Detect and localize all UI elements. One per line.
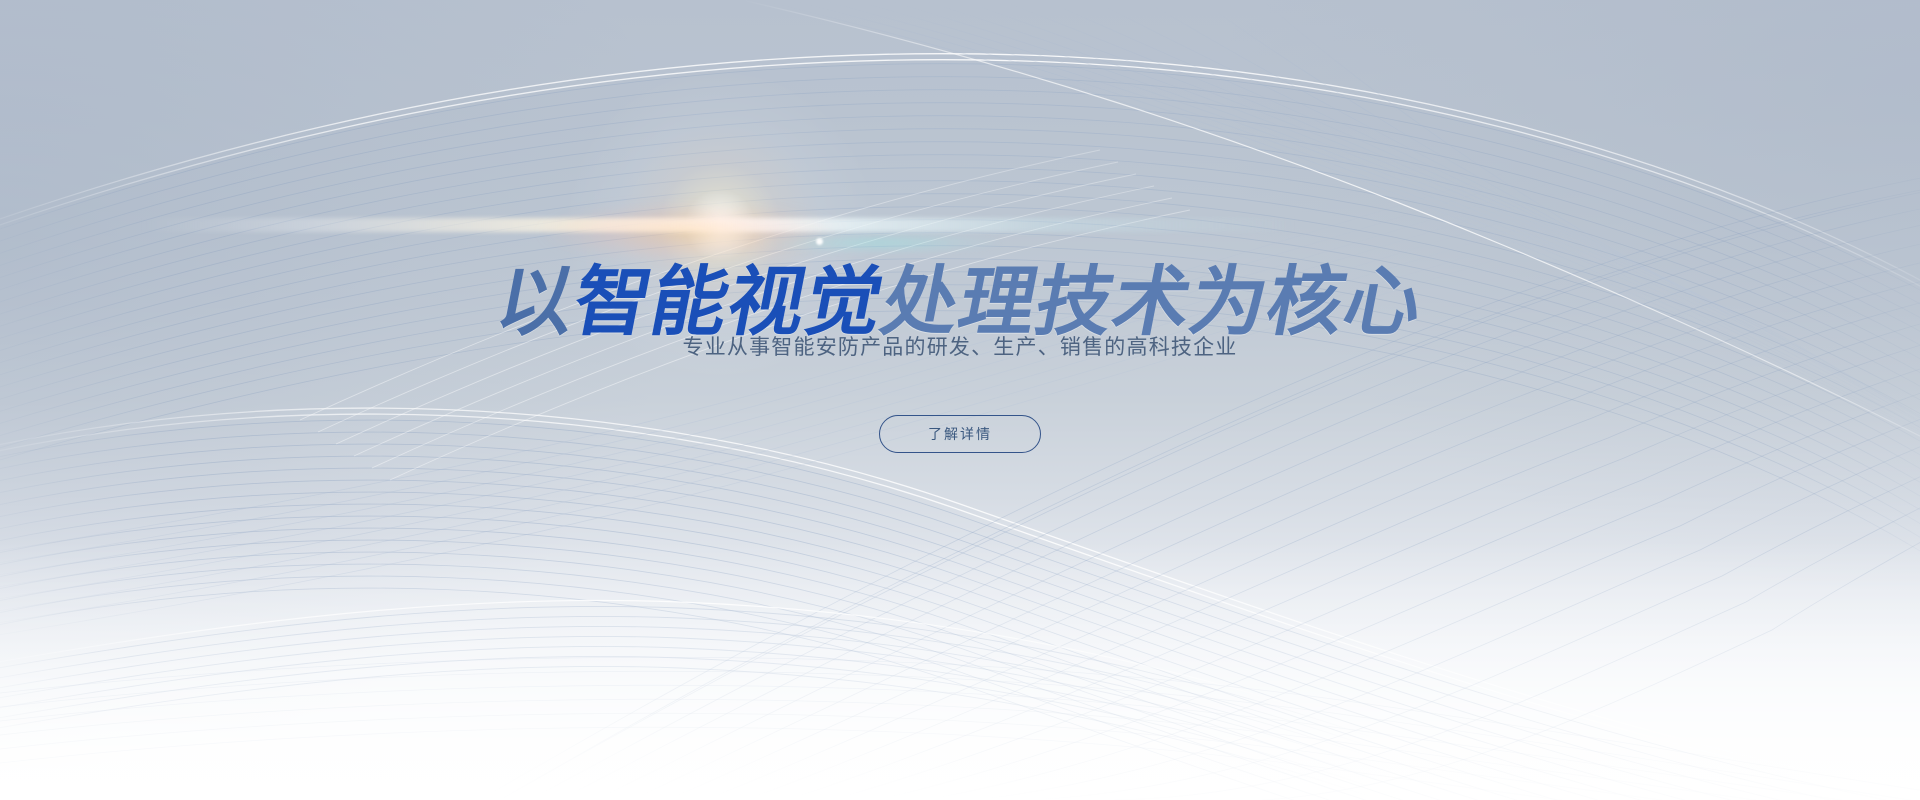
page-subtitle: 专业从事智能安防产品的研发、生产、销售的高科技企业 (683, 331, 1238, 361)
page-title: 以智能视觉处理技术为核心 (498, 264, 1422, 340)
learn-more-button-label: 了解详情 (928, 424, 992, 444)
headline-segment-1: 以 (491, 264, 583, 340)
hero-content: 以智能视觉处理技术为核心 专业从事智能安防产品的研发、生产、销售的高科技企业 了… (0, 0, 1920, 800)
headline-segment-2: 智能视觉 (568, 264, 891, 340)
headline-segment-3: 处理技术为核心 (876, 264, 1430, 340)
hero-banner: 以智能视觉处理技术为核心 专业从事智能安防产品的研发、生产、销售的高科技企业 了… (0, 0, 1920, 800)
learn-more-button[interactable]: 了解详情 (879, 415, 1041, 453)
